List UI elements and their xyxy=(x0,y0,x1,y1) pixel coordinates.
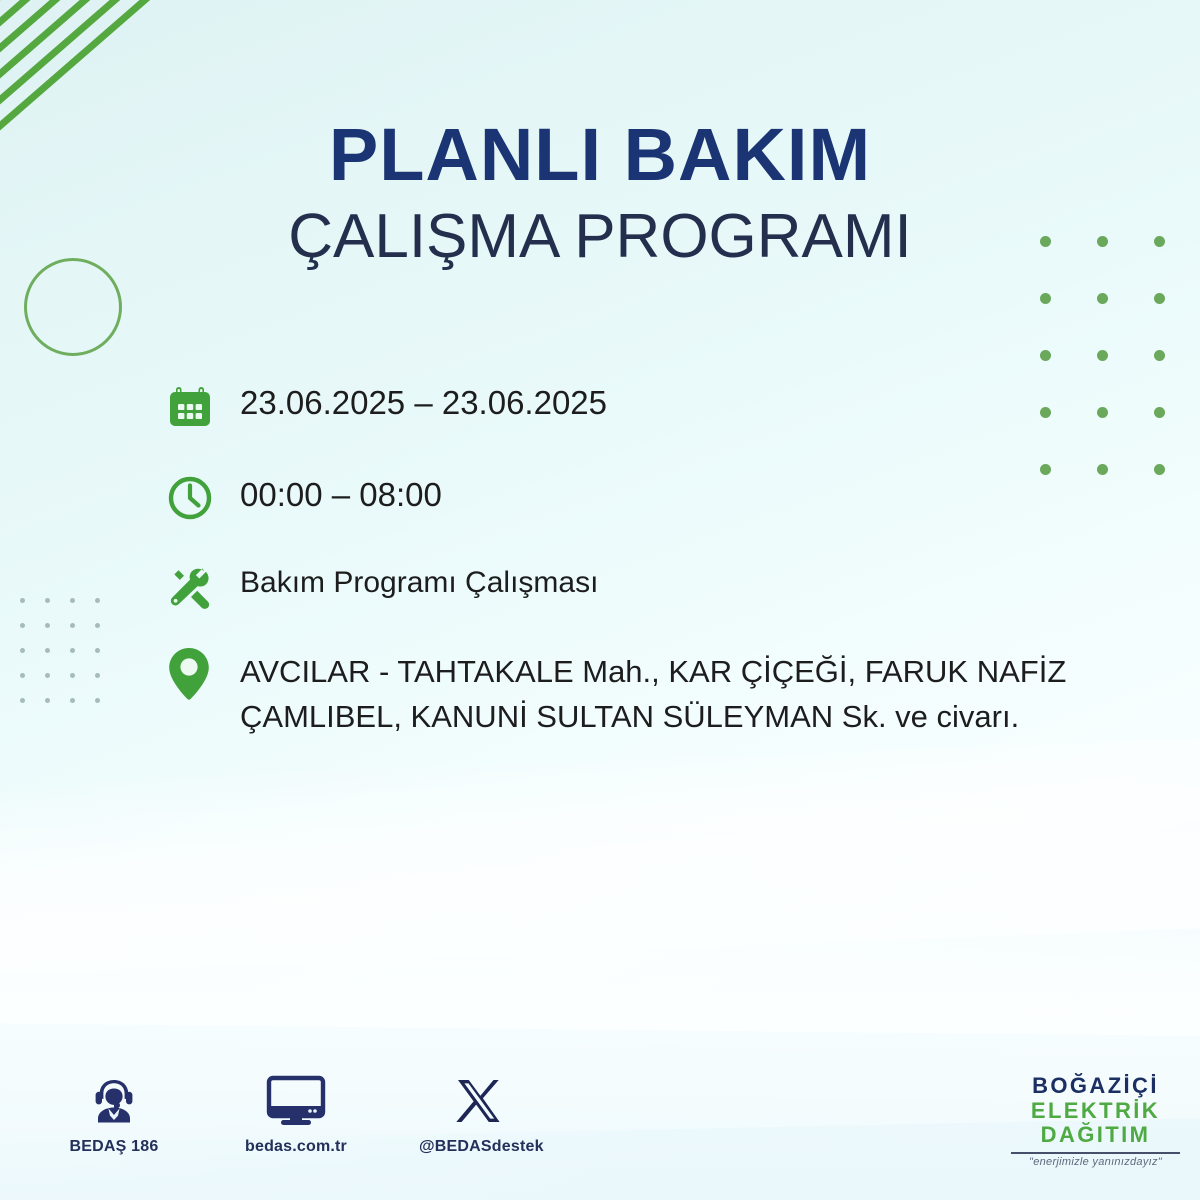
location-text: AVCILAR - TAHTAKALE Mah., KAR ÇİÇEĞİ, FA… xyxy=(240,644,1176,740)
footer: BEDAŞ 186 bedas.com.tr xyxy=(0,1070,1200,1200)
logo-divider xyxy=(1011,1152,1180,1154)
logo-tagline: "enerjimizle yanınızdayız" xyxy=(1003,1156,1188,1168)
page-title: PLANLI BAKIM ÇALIŞMA PROGRAMI xyxy=(0,118,1200,268)
date-range-text: 23.06.2025 – 23.06.2025 xyxy=(240,380,607,419)
work-type-text: Bakım Programı Çalışması xyxy=(240,562,598,598)
title-subtitle: ÇALIŞMA PROGRAMI xyxy=(0,206,1200,268)
x-twitter-icon xyxy=(419,1070,537,1132)
contact-item-phone[interactable]: BEDAŞ 186 xyxy=(55,1070,173,1156)
contact-item-social[interactable]: @BEDASdestek xyxy=(419,1070,537,1156)
outage-info-block: 23.06.2025 – 23.06.2025 00:00 – 08:00 xyxy=(166,380,1176,768)
info-row-time: 00:00 – 08:00 xyxy=(166,472,1176,522)
tools-icon xyxy=(166,562,240,614)
contact-label-phone: BEDAŞ 186 xyxy=(55,1138,173,1156)
time-range-text: 00:00 – 08:00 xyxy=(240,472,442,511)
support-headset-icon xyxy=(55,1070,173,1132)
contact-item-website[interactable]: bedas.com.tr xyxy=(237,1070,355,1156)
logo-line-dagitim: DAĞITIM xyxy=(1003,1123,1188,1148)
calendar-icon xyxy=(166,380,240,430)
bedas-logo: BOĞAZİÇİ ELEKTRİK DAĞITIM "enerjimizle y… xyxy=(1003,1074,1188,1168)
contact-label-social: @BEDASdestek xyxy=(419,1138,537,1156)
map-pin-icon xyxy=(166,644,240,702)
info-row-date: 23.06.2025 – 23.06.2025 xyxy=(166,380,1176,430)
contact-list: BEDAŞ 186 bedas.com.tr xyxy=(55,1070,537,1156)
monitor-icon xyxy=(237,1070,355,1132)
logo-line-bogazici: BOĞAZİÇİ xyxy=(1003,1074,1188,1099)
circle-outline-decoration xyxy=(24,258,122,356)
info-row-location: AVCILAR - TAHTAKALE Mah., KAR ÇİÇEĞİ, FA… xyxy=(166,644,1176,740)
title-main: PLANLI BAKIM xyxy=(0,118,1200,192)
info-row-work-type: Bakım Programı Çalışması xyxy=(166,562,1176,614)
logo-line-elektrik: ELEKTRİK xyxy=(1003,1099,1188,1124)
dot-grid-decoration-left xyxy=(20,598,120,723)
background-wave-1 xyxy=(0,731,1200,978)
clock-icon xyxy=(166,472,240,522)
poster-canvas: PLANLI BAKIM ÇALIŞMA PROGRAMI xyxy=(0,0,1200,1200)
contact-label-website: bedas.com.tr xyxy=(237,1138,355,1156)
